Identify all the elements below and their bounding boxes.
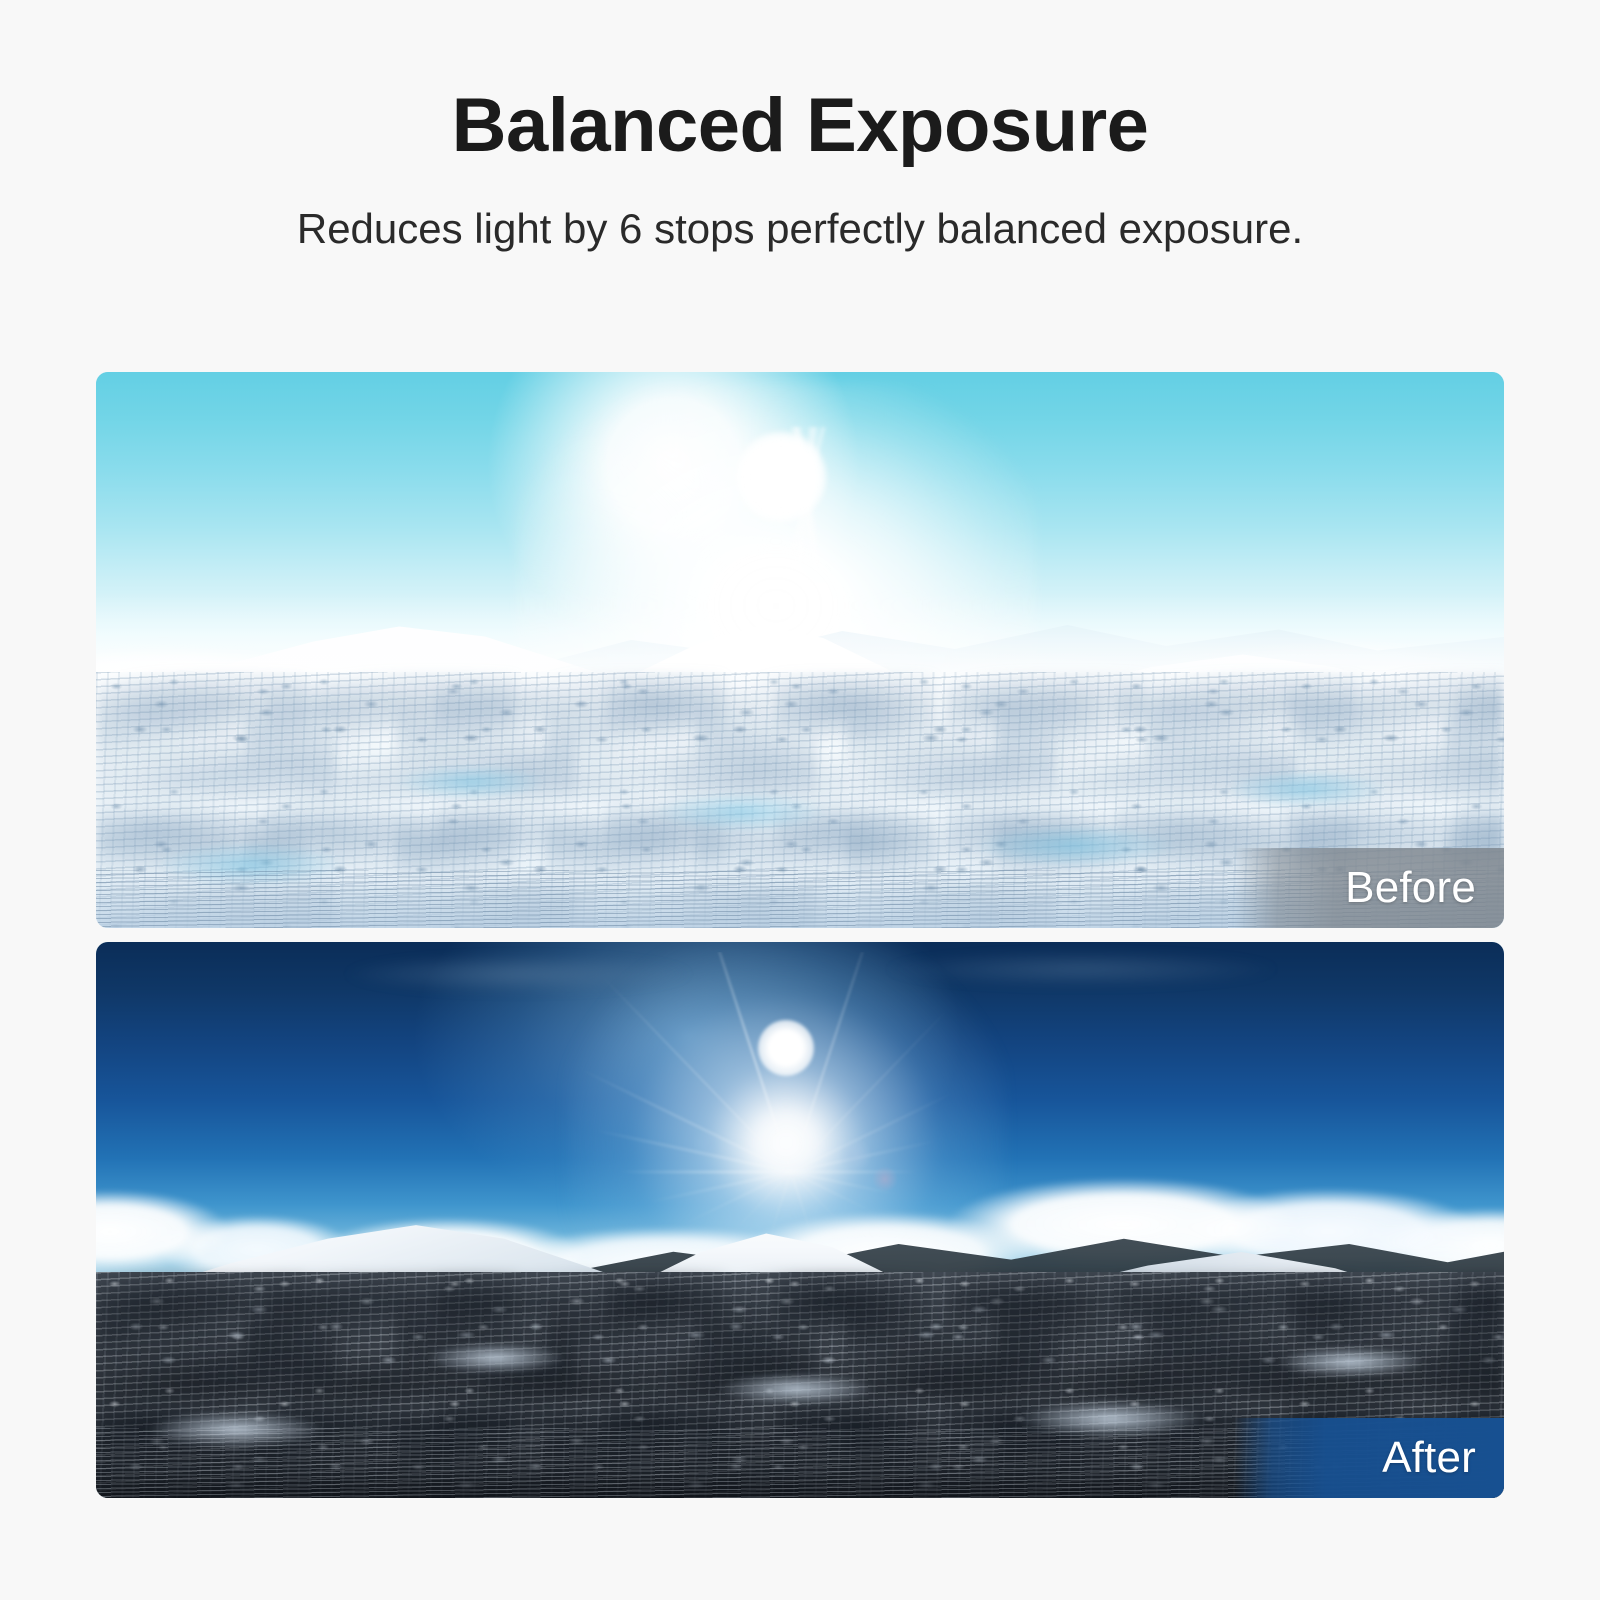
before-photo-card[interactable]: Before <box>96 372 1504 928</box>
before-shadow-patch <box>656 792 826 832</box>
before-shadow-patch <box>1226 770 1386 808</box>
after-snow-patch <box>426 1342 566 1374</box>
after-lens-flare <box>872 1166 898 1192</box>
before-cloud-band <box>96 522 1504 752</box>
before-sky <box>96 372 1504 702</box>
before-after-comparison: Before After <box>96 372 1504 1498</box>
page-title: Balanced Exposure <box>0 0 1600 164</box>
before-shadow-patch <box>156 842 346 888</box>
before-right-slope <box>844 602 1504 852</box>
header: Balanced Exposure Reduces light by 6 sto… <box>0 0 1600 250</box>
after-cloud-band <box>96 1120 1504 1300</box>
before-far-ridgeline <box>96 580 1504 730</box>
before-label-band: Before <box>1234 848 1504 928</box>
before-sun-glow <box>516 382 1036 812</box>
after-snow-patch <box>716 1372 876 1406</box>
before-shadow-patch <box>396 764 546 800</box>
after-label: After <box>1382 1433 1476 1483</box>
before-sun-icon <box>736 432 826 522</box>
before-label: Before <box>1345 863 1476 913</box>
before-shadow-patch <box>976 824 1176 868</box>
after-lens-flare <box>692 1130 722 1160</box>
after-snow-patch <box>1016 1400 1206 1438</box>
before-highlight-haze <box>96 592 1504 782</box>
after-photo-card[interactable]: After <box>96 942 1504 1498</box>
before-sun-rays-icon <box>636 427 976 567</box>
after-sun-icon <box>758 1020 814 1076</box>
after-lens-flare <box>838 1138 872 1172</box>
after-label-band: After <box>1234 1418 1504 1498</box>
after-snow-patch <box>146 1410 326 1450</box>
after-snow-patch <box>1276 1346 1426 1378</box>
page-subtitle: Reduces light by 6 stops perfectly balan… <box>0 164 1600 250</box>
before-center-peak <box>476 568 1096 818</box>
after-far-ridgeline <box>96 1192 1504 1322</box>
after-cloud-shadow <box>96 942 1504 1022</box>
